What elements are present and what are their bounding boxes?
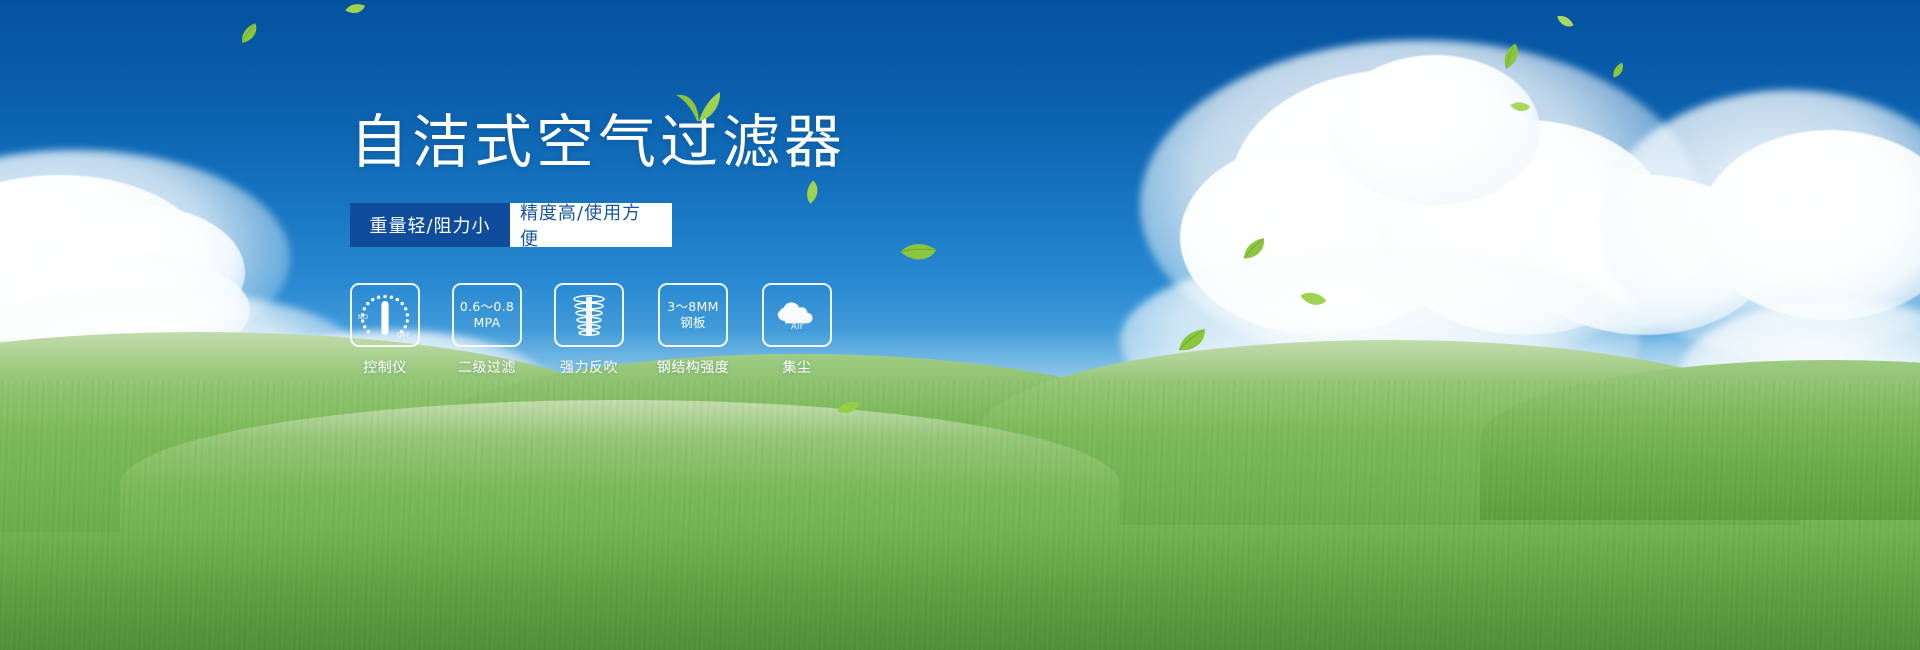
grass-field: [0, 380, 1920, 650]
feature-label: 控制仪: [350, 357, 420, 377]
dust-cloud-air-icon: Air: [774, 299, 820, 331]
pressure-unit-text: MPA: [474, 315, 501, 331]
tab-weight-resistance[interactable]: 重量轻/阻力小: [350, 203, 510, 247]
gauge-controller-icon: NO OFF: [356, 289, 414, 341]
product-banner: 自洁式空气过滤器 重量轻/阻力小 精度高/使用方便: [0, 0, 1920, 650]
pressure-range-text: 0.6～0.8: [460, 299, 514, 315]
feature-label: 集尘: [762, 357, 832, 377]
steel-plate-text: 钢板: [680, 315, 706, 331]
grass-shadow: [0, 530, 1920, 650]
feature-item-dust-collection[interactable]: Air 集尘: [762, 283, 832, 377]
feature-tabs: 重量轻/阻力小 精度高/使用方便: [350, 203, 675, 247]
svg-text:OFF: OFF: [397, 331, 410, 339]
tab-precision-convenience[interactable]: 精度高/使用方便: [496, 203, 672, 247]
steel-thickness-text: 3～8MM: [667, 299, 718, 315]
feature-box: Air: [762, 283, 832, 347]
feature-box: NO OFF: [350, 283, 420, 347]
banner-content: 自洁式空气过滤器 重量轻/阻力小 精度高/使用方便: [350, 110, 1070, 377]
feature-item-back-blow[interactable]: 强力反吹: [554, 283, 624, 377]
cloud-shape: [1330, 55, 1540, 205]
feature-label: 强力反吹: [554, 357, 624, 377]
feature-icon-row: NO OFF 控制仪 0.6～0.8 MPA 二级过滤: [350, 283, 1070, 377]
feature-item-controller[interactable]: NO OFF 控制仪: [350, 283, 420, 377]
svg-text:NO: NO: [358, 313, 368, 321]
feature-box: 3～8MM 钢板: [658, 283, 728, 347]
feature-item-secondary-filtration[interactable]: 0.6～0.8 MPA 二级过滤: [452, 283, 522, 377]
feature-box: 0.6～0.8 MPA: [452, 283, 522, 347]
feature-box: [554, 283, 624, 347]
feature-label: 二级过滤: [452, 357, 522, 377]
filter-cartridge-icon: [565, 291, 613, 339]
svg-text:Air: Air: [791, 322, 804, 331]
feature-item-steel-strength[interactable]: 3～8MM 钢板 钢结构强度: [656, 283, 730, 377]
feature-label: 钢结构强度: [656, 357, 730, 377]
page-title: 自洁式空气过滤器: [350, 110, 1070, 175]
